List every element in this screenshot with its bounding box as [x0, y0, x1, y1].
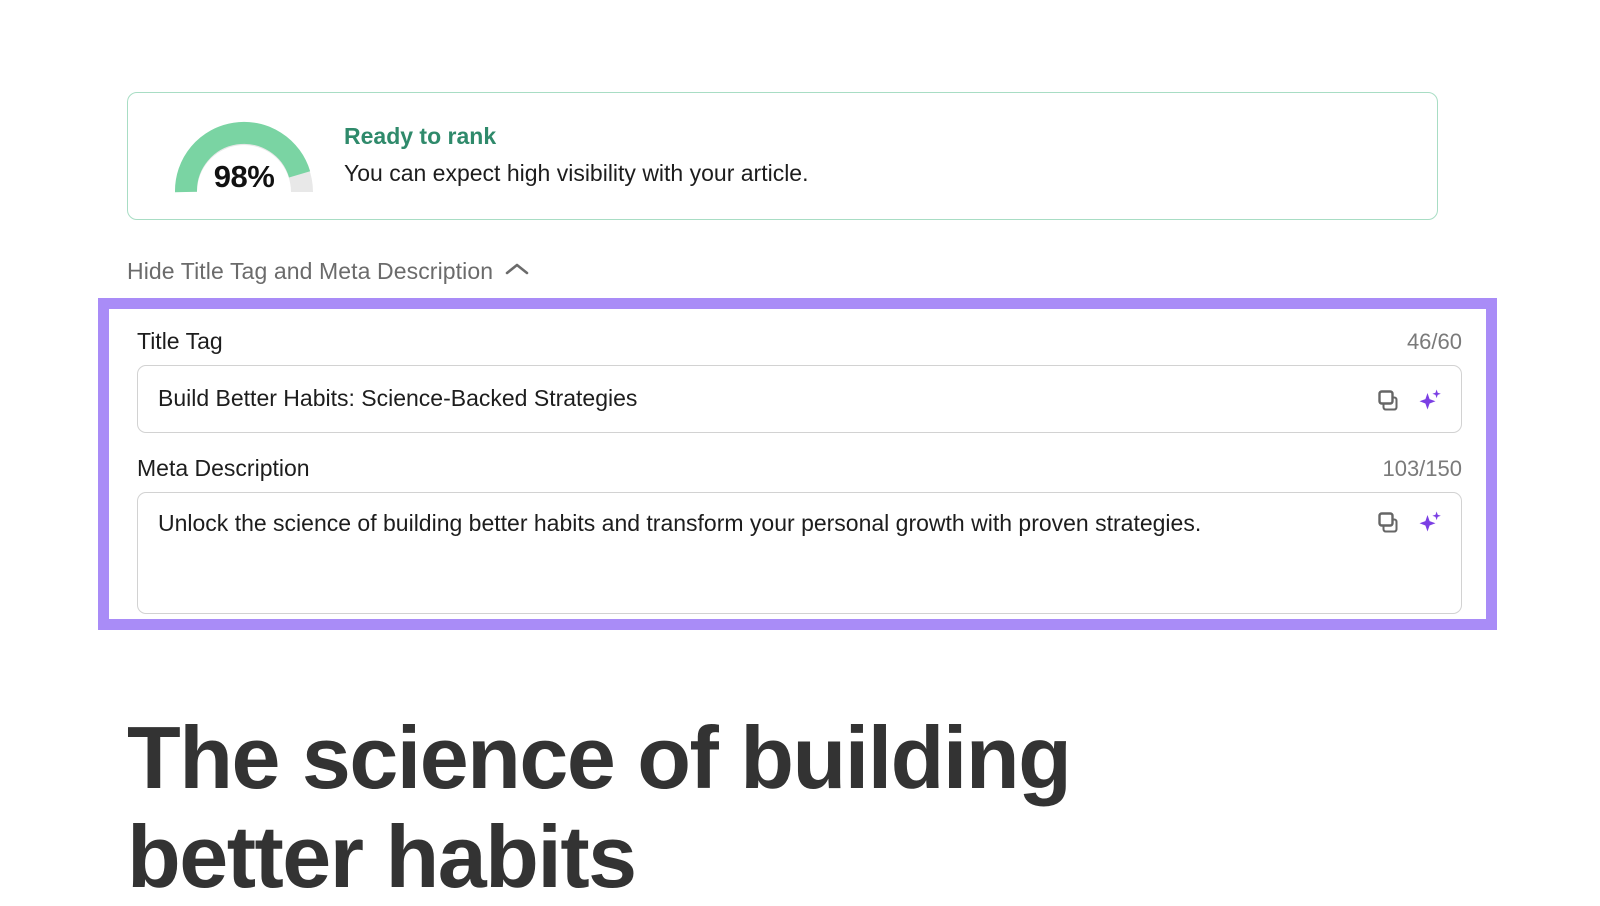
meta-description-input[interactable]: Unlock the science of building better ha… [137, 492, 1462, 614]
ready-to-rank-card: 98% Ready to rank You can expect high vi… [127, 92, 1438, 220]
rank-status-subtitle: You can expect high visibility with your… [344, 159, 809, 188]
meta-description-value[interactable]: Unlock the science of building better ha… [158, 507, 1375, 539]
hide-title-meta-toggle[interactable]: Hide Title Tag and Meta Description [127, 258, 530, 285]
copy-icon[interactable] [1375, 387, 1401, 413]
title-tag-field: Title Tag 46/60 Build Better Habits: Sci… [137, 328, 1462, 433]
chevron-up-icon [504, 261, 530, 282]
meta-description-actions [1375, 507, 1443, 535]
title-meta-highlight-panel: Title Tag 46/60 Build Better Habits: Sci… [98, 298, 1497, 630]
copy-icon[interactable] [1375, 509, 1401, 535]
ai-sparkles-icon[interactable] [1417, 387, 1443, 413]
hide-title-meta-toggle-label: Hide Title Tag and Meta Description [127, 258, 493, 285]
rank-card-text: Ready to rank You can expect high visibi… [344, 122, 809, 190]
title-tag-counter: 46/60 [1407, 329, 1462, 355]
meta-description-field: Meta Description 103/150 Unlock the scie… [137, 455, 1462, 614]
title-tag-value[interactable]: Build Better Habits: Science-Backed Stra… [158, 383, 1375, 414]
meta-description-header: Meta Description 103/150 [137, 455, 1462, 482]
article-heading: The science of building better habits [127, 709, 1307, 906]
meta-description-counter: 103/150 [1382, 456, 1462, 482]
gauge-value-label: 98% [170, 159, 318, 195]
title-tag-header: Title Tag 46/60 [137, 328, 1462, 355]
title-tag-label: Title Tag [137, 328, 223, 355]
meta-description-label: Meta Description [137, 455, 310, 482]
title-meta-panel-inner: Title Tag 46/60 Build Better Habits: Sci… [109, 309, 1486, 619]
title-tag-input[interactable]: Build Better Habits: Science-Backed Stra… [137, 365, 1462, 433]
title-tag-actions [1375, 385, 1443, 413]
rank-status-title: Ready to rank [344, 122, 809, 151]
field-spacer [137, 433, 1462, 455]
ai-sparkles-icon[interactable] [1417, 509, 1443, 535]
seo-score-gauge: 98% [170, 116, 318, 196]
